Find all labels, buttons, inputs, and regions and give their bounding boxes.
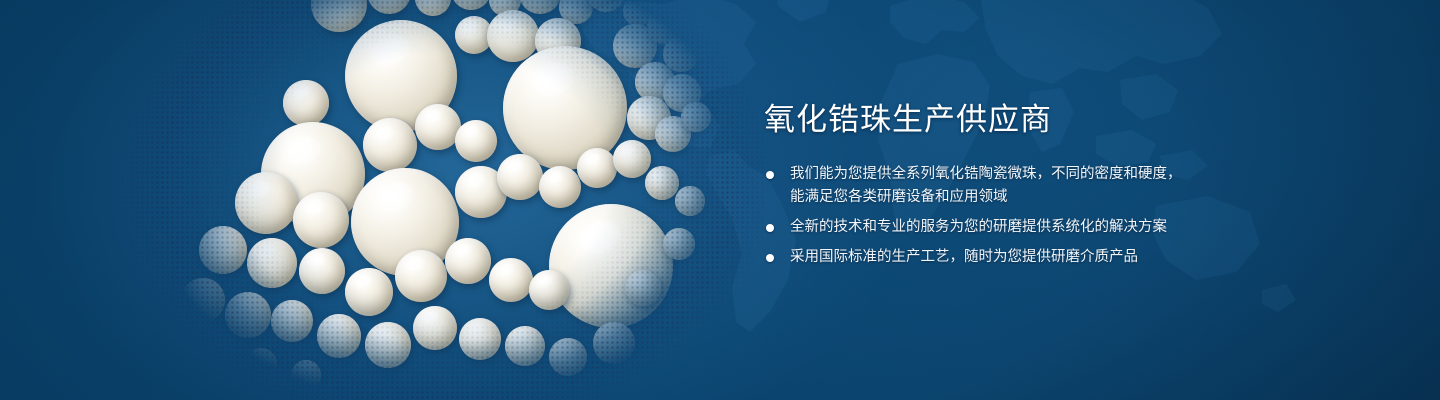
bullet-text-line: 采用国际标准的生产工艺，随时为您提供研磨介质产品 — [790, 246, 1284, 269]
banner-bullet-list: 我们能为您提供全系列氧化锆陶瓷微珠，不同的密度和硬度， 能满足您各类研磨设备和应… — [764, 163, 1284, 269]
bullet-dot-icon — [766, 254, 774, 262]
bullet-dot-icon — [766, 224, 774, 232]
bullet-text-line: 我们能为您提供全系列氧化锆陶瓷微珠，不同的密度和硬度， — [790, 163, 1284, 186]
list-item: 全新的技术和专业的服务为您的研磨提供系统化的解决方案 — [764, 216, 1284, 239]
list-item: 我们能为您提供全系列氧化锆陶瓷微珠，不同的密度和硬度， 能满足您各类研磨设备和应… — [764, 163, 1284, 209]
banner-headline: 氧化锆珠生产供应商 — [764, 104, 1284, 137]
bullet-text-line: 全新的技术和专业的服务为您的研磨提供系统化的解决方案 — [790, 216, 1284, 239]
bullet-dot-icon — [766, 171, 774, 179]
bullet-text-line: 能满足您各类研磨设备和应用领域 — [790, 186, 1284, 209]
banner-content: 氧化锆珠生产供应商 我们能为您提供全系列氧化锆陶瓷微珠，不同的密度和硬度， 能满… — [764, 104, 1284, 269]
hero-banner: 氧化锆珠生产供应商 我们能为您提供全系列氧化锆陶瓷微珠，不同的密度和硬度， 能满… — [0, 0, 1440, 400]
list-item: 采用国际标准的生产工艺，随时为您提供研磨介质产品 — [764, 246, 1284, 269]
